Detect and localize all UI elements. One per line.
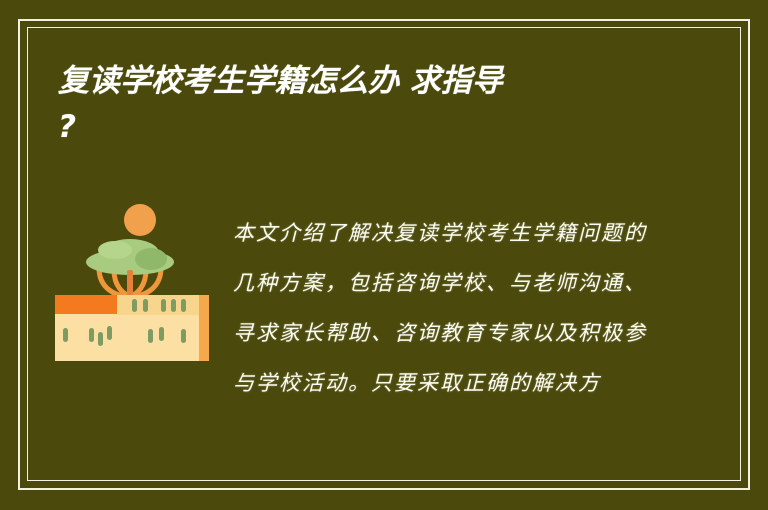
page-title-text: 复读学校考生学籍怎么办 求指导 ? (58, 58, 718, 150)
school-building-icon (55, 295, 209, 361)
article-summary-text: 本文介绍了解决复读学校考生学籍问题的几种方案，包括咨询学校、与老师沟通、寻求家长… (233, 208, 647, 456)
page-title: 复读学校考生学籍怎么办 求指导 ? (58, 58, 718, 150)
school-building-illustration (55, 196, 210, 361)
tree-canopy-icon (86, 239, 174, 275)
article-card: 复读学校考生学籍怎么办 求指导 ? (0, 0, 768, 510)
article-body: 本文介绍了解决复读学校考生学籍问题的几种方案，包括咨询学校、与老师沟通、寻求家长… (55, 196, 715, 466)
sun-icon (124, 204, 156, 236)
